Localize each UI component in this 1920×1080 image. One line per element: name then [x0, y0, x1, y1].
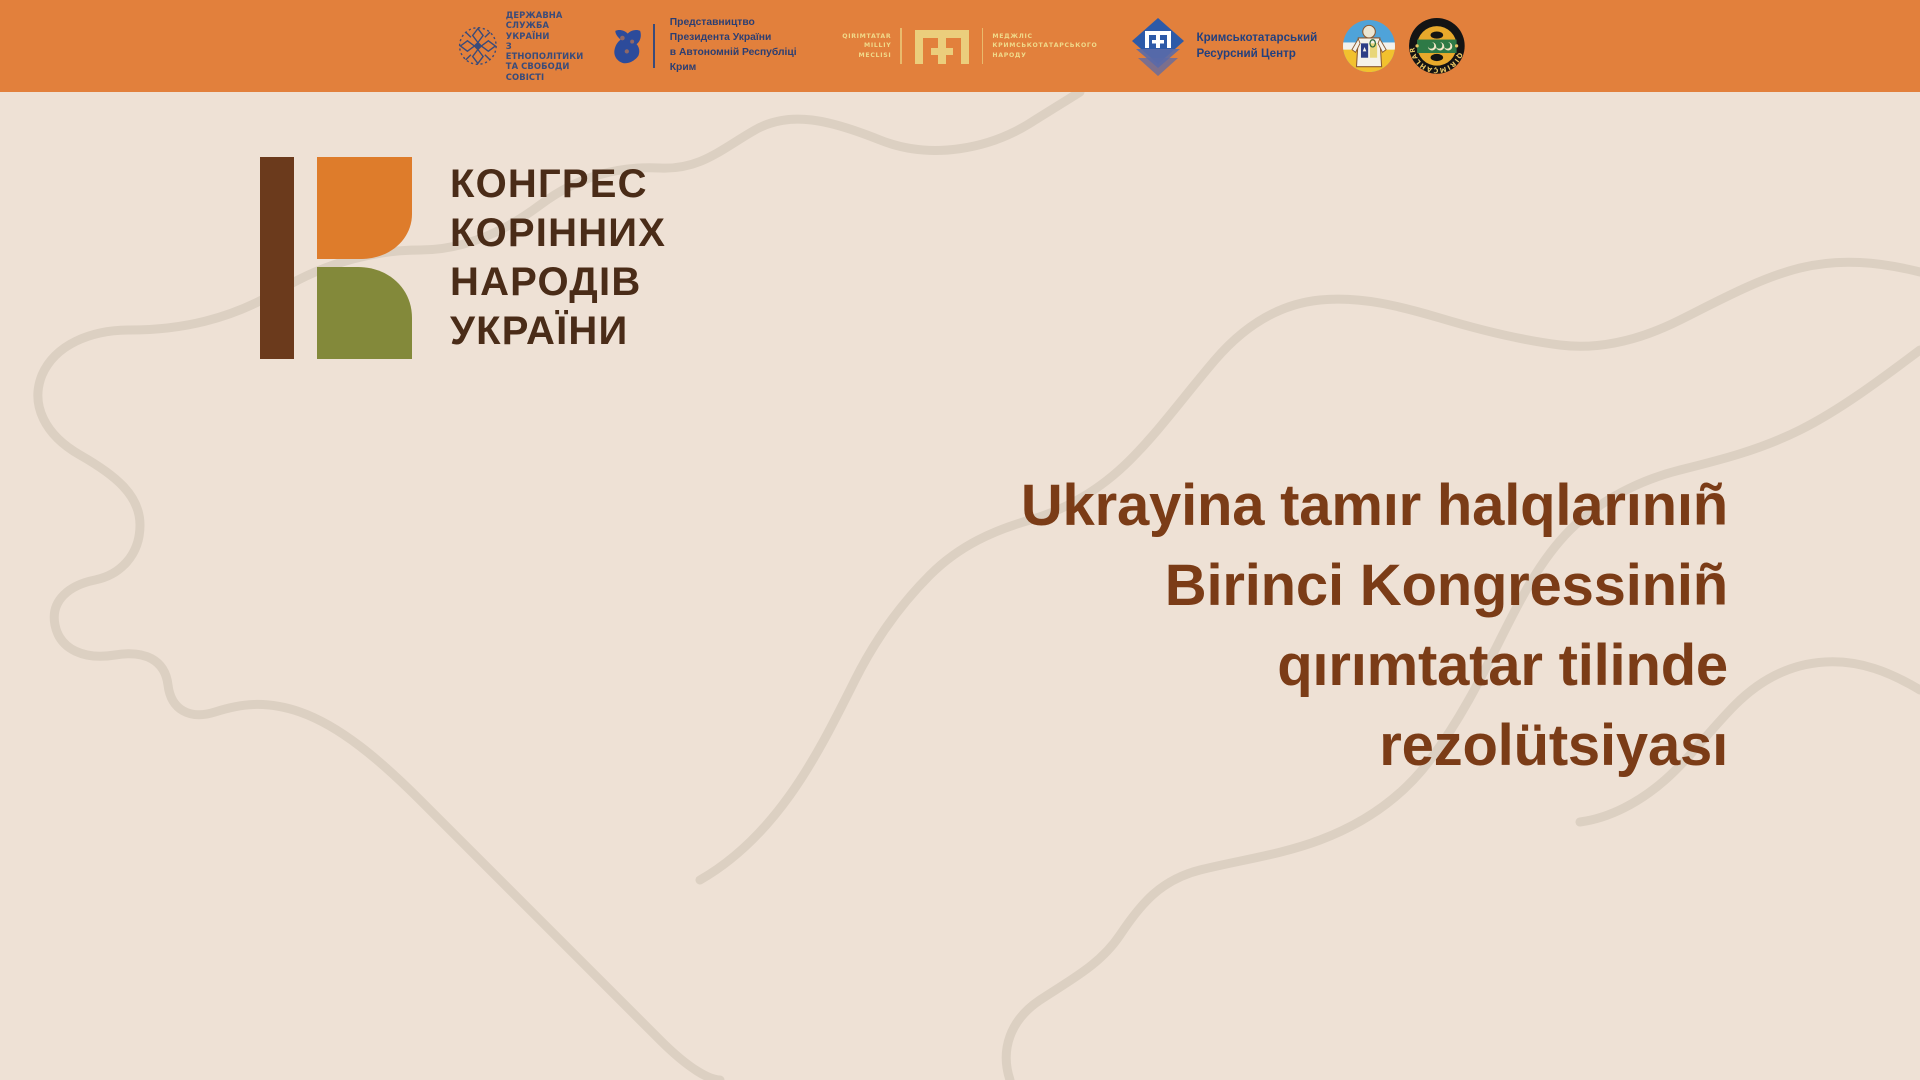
divider: [653, 24, 655, 68]
partner-label-representative-president: Представництво Президента України в Авто…: [670, 16, 808, 75]
mejlis-label-crh: QIRIMTATAR MILLIY MECLISI: [842, 32, 891, 60]
trident-map-icon: [610, 23, 645, 69]
partner-label-dsu: ДЕРЖАВНА СЛУЖБА УКРАЇНИ З ЕТНОПОЛІТИКИ Т…: [506, 10, 588, 82]
partner-logo-qirimcahlar: QIRIMÇAHLAR: [1409, 15, 1465, 77]
partner-label-ctrc: Кримськотатарський Ресурсний Центр: [1197, 30, 1318, 62]
ornament-icon: [457, 23, 499, 69]
partner-logo-mejlis: QIRIMTATAR MILLIY MECLISI МЕДЖЛІС КРИМСЬ…: [842, 0, 1097, 92]
tamga-icon: [911, 24, 973, 68]
kknu-logo: КОНГРЕС КОРІННИХ НАРОДІВ УКРАЇНИ: [260, 157, 666, 359]
slide-title: Ukrayina tamır halqlarınıñ Birinci Kongr…: [628, 466, 1728, 786]
qirimcahlar-badge-icon: QIRIMÇAHLAR: [1409, 18, 1465, 74]
partner-logo-bar: ДЕРЖАВНА СЛУЖБА УКРАЇНИ З ЕТНОПОЛІТИКИ Т…: [0, 0, 1920, 92]
partner-logo-ctrc: Кримськотатарський Ресурсний Центр: [1128, 0, 1318, 92]
tamga-diamond-icon: [1128, 16, 1188, 76]
mejlis-label-ukr: МЕДЖЛІС КРИМСЬКОТАТАРСЬКОГО НАРОДУ: [992, 32, 1097, 60]
kknu-logo-mark: [260, 157, 412, 359]
logo-bar-shape: [260, 157, 294, 359]
title-line-3: qırımtatar tilinde: [628, 626, 1728, 706]
title-line-4: rezolütsiyası: [628, 706, 1728, 786]
logo-leaf-bottom-shape: [317, 267, 412, 359]
partner-logo-karaim: [1343, 17, 1395, 75]
karaim-figure-icon: [1343, 20, 1395, 72]
partner-logo-representative-president: Представництво Президента України в Авто…: [610, 0, 809, 92]
kknu-logo-text: КОНГРЕС КОРІННИХ НАРОДІВ УКРАЇНИ: [450, 160, 666, 355]
partner-logo-dsu-etnopolityky: ДЕРЖАВНА СЛУЖБА УКРАЇНИ З ЕТНОПОЛІТИКИ Т…: [453, 0, 588, 92]
title-line-2: Birinci Kongressiniñ: [628, 546, 1728, 626]
divider: [982, 28, 984, 64]
divider: [900, 28, 902, 64]
title-line-1: Ukrayina tamır halqlarınıñ: [628, 466, 1728, 546]
